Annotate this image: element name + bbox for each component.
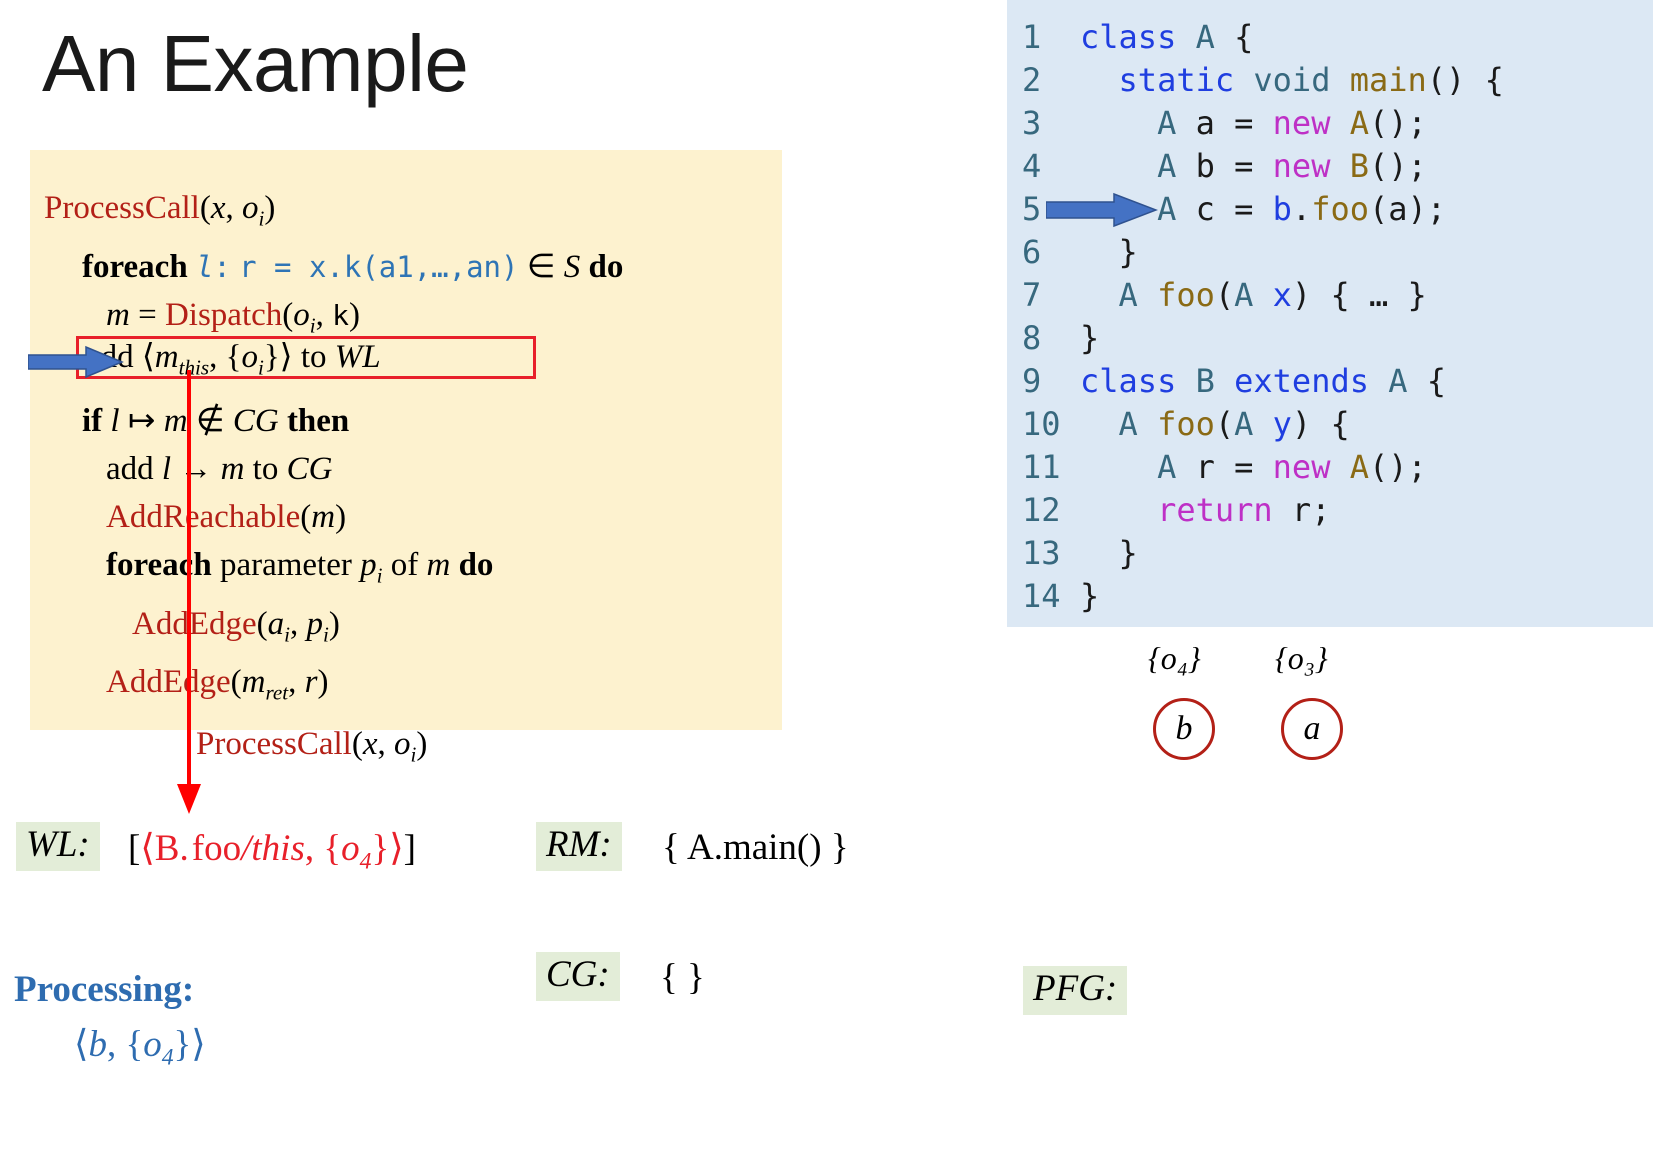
code-row: 11 A r = new A(); [1022, 446, 1504, 489]
keyword-to-wl: to [301, 339, 327, 375]
line-number: 4 [1022, 145, 1080, 188]
reachable-methods-value: { A.main() } [662, 826, 849, 869]
line-number: 7 [1022, 274, 1080, 317]
line-number: 3 [1022, 102, 1080, 145]
recursive-call-label: ProcessCall(x, oi) [196, 726, 427, 768]
reachable-methods-label-wrap: RM: [536, 822, 622, 871]
set-WL: WL [335, 339, 381, 375]
addedge-ret-args: (mret, r) [231, 664, 329, 700]
call-graph-label-wrap: CG: [536, 952, 620, 1001]
callsite-signature: r = x.k(a1,…,an) [239, 250, 518, 284]
in-set-symbol: ∈ [527, 249, 556, 285]
code-row: 10 A foo(A y) { [1022, 403, 1504, 446]
pfg-node-a-label: a [1304, 710, 1321, 748]
addreachable-args: (m) [300, 499, 346, 535]
pfg-node-b[interactable]: b [1153, 698, 1215, 760]
dispatch-args: (oi, k) [282, 297, 360, 333]
call-label-fn: ProcessCall [196, 726, 352, 762]
pointer-flow-graph-label: PFG: [1023, 966, 1127, 1015]
word-parameter: parameter [220, 547, 352, 583]
equals-token: = [138, 297, 157, 333]
code-row: 4 A b = new B(); [1022, 145, 1504, 188]
algo-line-foreach: foreach l: r = x.k(a1,…,an) ∈ S do [44, 243, 804, 291]
pointer-flow-graph-label-wrap: PFG: [1023, 966, 1127, 1015]
dispatch-name: Dispatch [165, 297, 282, 333]
object-set-a: {o₃} [1275, 640, 1328, 677]
var-m-param: m [426, 547, 450, 583]
set-S: S [564, 249, 581, 285]
code-row: 6 } [1022, 231, 1504, 274]
code-row: 12 return r; [1022, 489, 1504, 532]
line-number: 2 [1022, 59, 1080, 102]
line-number: 12 [1022, 489, 1080, 532]
pfg-node-b-label: b [1176, 710, 1193, 748]
algo-line-add-cg: add l → m to CG [44, 445, 804, 493]
addedge-name-ret: AddEdge [106, 664, 231, 700]
pfg-node-a[interactable]: a [1281, 698, 1343, 760]
current-line-arrow-icon [1046, 191, 1158, 229]
set-CG: CG [233, 403, 279, 439]
line-number: 1 [1022, 16, 1080, 59]
processing-title: Processing: [14, 968, 194, 1011]
algo-line-foreach-param: foreach parameter pi of m do [44, 541, 804, 600]
algo-line-addedge-param: AddEdge(ai, pi) [44, 600, 804, 659]
keyword-do-param: do [459, 547, 494, 583]
keyword-do: do [588, 249, 623, 285]
algo-line-if: if l ↦ m ∉ CG then [44, 397, 804, 445]
var-m: m [106, 297, 130, 333]
code-row: 9class B extends A { [1022, 360, 1504, 403]
algo-line-processcall: ProcessCall(x, oi) [44, 184, 804, 243]
wl-bracket-open: [ [128, 828, 140, 869]
var-l-cg: l [162, 451, 171, 487]
keyword-if: if [82, 403, 102, 439]
line-number: 8 [1022, 317, 1080, 360]
processing-value: ⟨b, {o4}⟩ [74, 1022, 206, 1071]
var-l: l [110, 403, 119, 439]
keyword-then: then [287, 403, 349, 439]
processcall-args: (x, oi) [200, 190, 276, 226]
set-CG-target: CG [287, 451, 333, 487]
var-pi: pi [360, 547, 382, 583]
line-number: 14 [1022, 575, 1080, 618]
word-of: of [391, 547, 419, 583]
wl-entry: ⟨B. foo/this, {o4}⟩ [140, 828, 403, 869]
keyword-foreach: foreach [82, 249, 188, 285]
mapsto-symbol: ↦ [128, 403, 156, 439]
var-m-cg: m [221, 451, 245, 487]
code-row: 13 } [1022, 532, 1504, 575]
algorithm-pseudocode: ProcessCall(x, oi) foreach l: r = x.k(a1… [44, 184, 804, 717]
worklist-label-wrap: WL: [16, 822, 100, 871]
wl-bracket-close: ] [404, 828, 416, 869]
processcall-name: ProcessCall [44, 190, 200, 226]
object-set-b: {o₄} [1148, 640, 1201, 677]
colon-token: : [213, 250, 230, 284]
code-row: 2 static void main() { [1022, 59, 1504, 102]
add-wl-pair: ⟨mthis, {oi}⟩ [142, 339, 293, 375]
code-row: 8} [1022, 317, 1504, 360]
call-graph-label: CG: [536, 952, 620, 1001]
algo-line-addedge-ret: AddEdge(mret, r) [44, 658, 804, 717]
algo-line-add-to-wl: add ⟨mthis, {oi}⟩ to WL [86, 337, 381, 388]
code-row: 3 A a = new A(); [1022, 102, 1504, 145]
keyword-add: add [106, 451, 154, 487]
algorithm-step-arrow-icon [28, 345, 124, 379]
source-code-listing: 1class A {2 static void main() {3 A a = … [1022, 16, 1504, 618]
code-row: 14} [1022, 575, 1504, 618]
loop-var-l: l [196, 250, 213, 284]
line-number: 9 [1022, 360, 1080, 403]
reachable-methods-label: RM: [536, 822, 622, 871]
call-label-args: (x, oi) [352, 726, 428, 762]
page-title: An Example [42, 22, 468, 106]
line-number: 13 [1022, 532, 1080, 575]
code-row: 1class A { [1022, 16, 1504, 59]
line-number: 11 [1022, 446, 1080, 489]
keyword-to: to [253, 451, 279, 487]
line-number: 10 [1022, 403, 1080, 446]
algo-line-addreachable: AddReachable(m) [44, 493, 804, 541]
addedge-param-args: (ai, pi) [257, 606, 340, 642]
worklist-label: WL: [16, 822, 100, 871]
worklist-value: [⟨B. foo/this, {o4}⟩] [128, 826, 416, 875]
line-number: 6 [1022, 231, 1080, 274]
code-row: 7 A foo(A x) { … } [1022, 274, 1504, 317]
call-graph-value: { } [660, 956, 705, 999]
